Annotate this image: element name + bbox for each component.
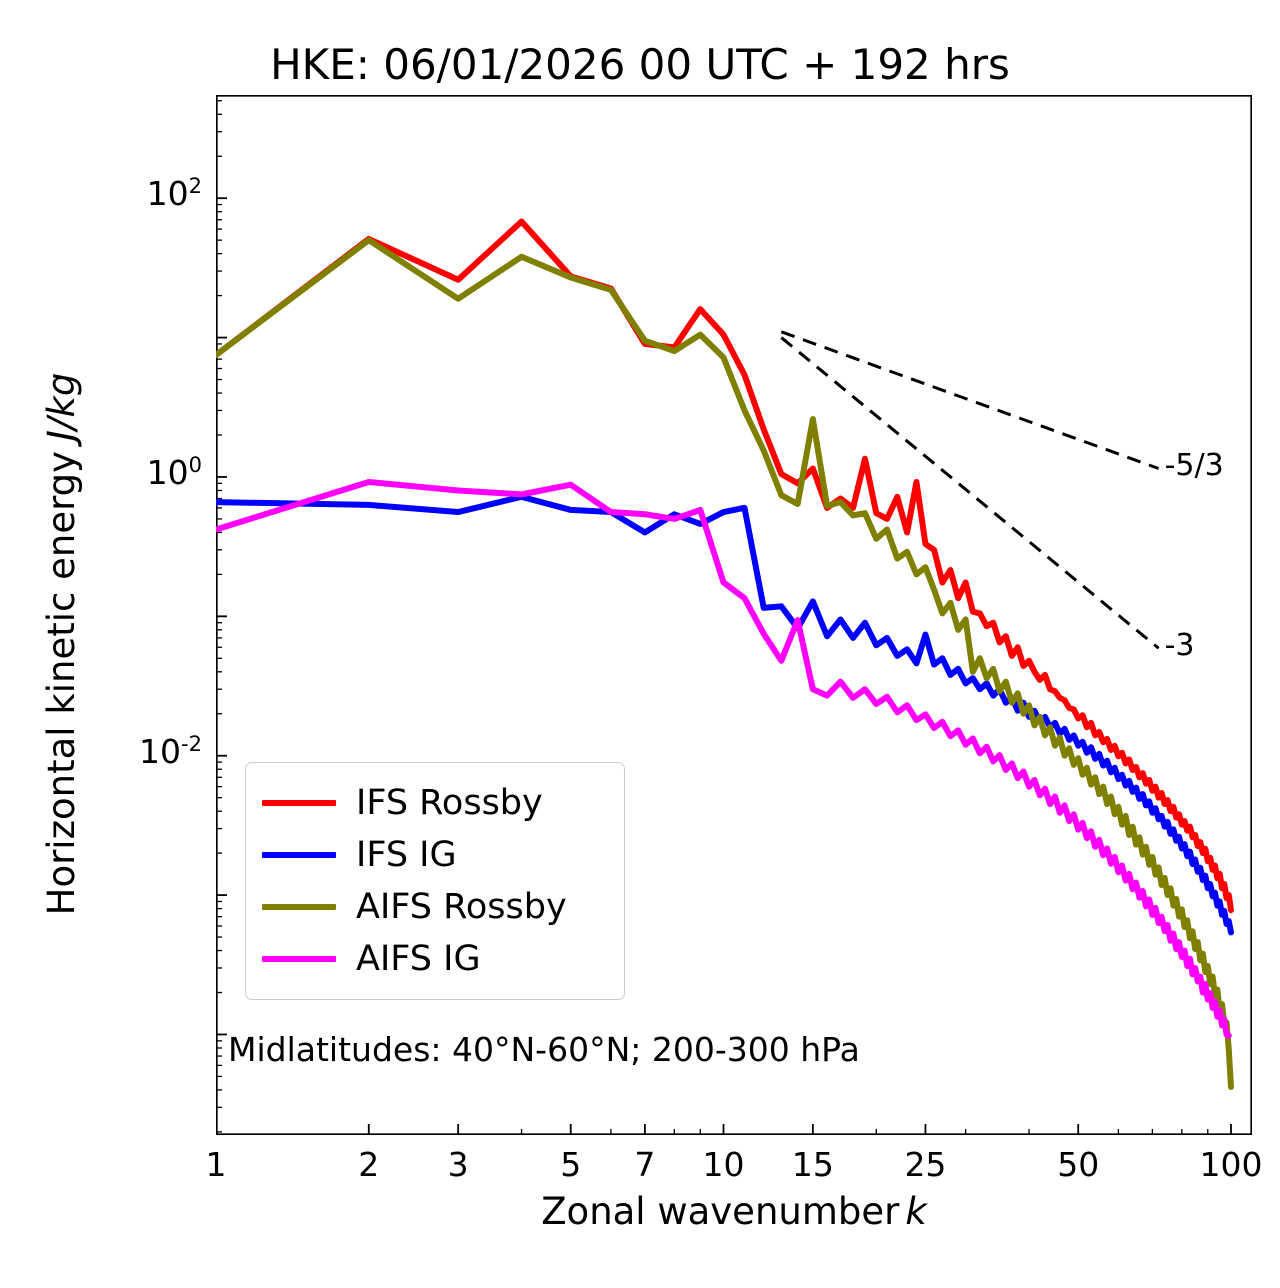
- x-tick-label: 25: [875, 1145, 975, 1184]
- x-tick-label: 50: [1028, 1145, 1128, 1184]
- x-tick-label: 1: [166, 1145, 266, 1184]
- y-axis-label: Horizontal kinetic energyJ/kg: [30, 0, 92, 1288]
- slope-label: -3: [1165, 628, 1195, 663]
- y-axis-label-text: Horizontal kinetic energy: [40, 451, 83, 915]
- figure-root: HKE: 06/01/2026 00 UTC + 192 hrs Horizon…: [0, 0, 1280, 1288]
- legend-color-swatch: [262, 852, 336, 858]
- legend-item[interactable]: IFS Rossby: [262, 777, 608, 829]
- y-tick-label: 100: [147, 453, 202, 492]
- x-tick-label: 3: [408, 1145, 508, 1184]
- x-axis-label-text: Zonal wavenumber: [541, 1190, 899, 1233]
- x-tick-label: 100: [1181, 1145, 1280, 1184]
- legend-item-label: IFS IG: [356, 835, 457, 875]
- legend-item[interactable]: AIFS IG: [262, 933, 608, 985]
- y-tick-label: 10-2: [139, 732, 202, 771]
- legend-item[interactable]: IFS IG: [262, 829, 608, 881]
- x-tick-label: 10: [673, 1145, 773, 1184]
- x-tick-label: 15: [763, 1145, 863, 1184]
- slope-label: -5/3: [1165, 448, 1224, 483]
- x-axis-ticks: [216, 1124, 1231, 1135]
- x-tick-label: 2: [319, 1145, 419, 1184]
- legend-color-swatch: [262, 956, 336, 962]
- y-axis-label-units: J/kg: [40, 373, 83, 451]
- x-axis-label-symbol: k: [899, 1190, 926, 1233]
- chart-title: HKE: 06/01/2026 00 UTC + 192 hrs: [0, 40, 1280, 89]
- legend-item-label: AIFS Rossby: [356, 887, 567, 927]
- legend-item[interactable]: AIFS Rossby: [262, 881, 608, 933]
- chart-legend: IFS RossbyIFS IGAIFS RossbyAIFS IG: [245, 762, 625, 1000]
- legend-color-swatch: [262, 800, 336, 806]
- legend-color-swatch: [262, 904, 336, 910]
- legend-item-label: AIFS IG: [356, 939, 481, 979]
- x-axis-label: Zonal wavenumberk: [216, 1190, 1252, 1233]
- chart-annotation: Midlatitudes: 40°N-60°N; 200-300 hPa: [228, 1030, 860, 1069]
- y-tick-label: 102: [147, 174, 202, 213]
- legend-item-label: IFS Rossby: [356, 783, 543, 823]
